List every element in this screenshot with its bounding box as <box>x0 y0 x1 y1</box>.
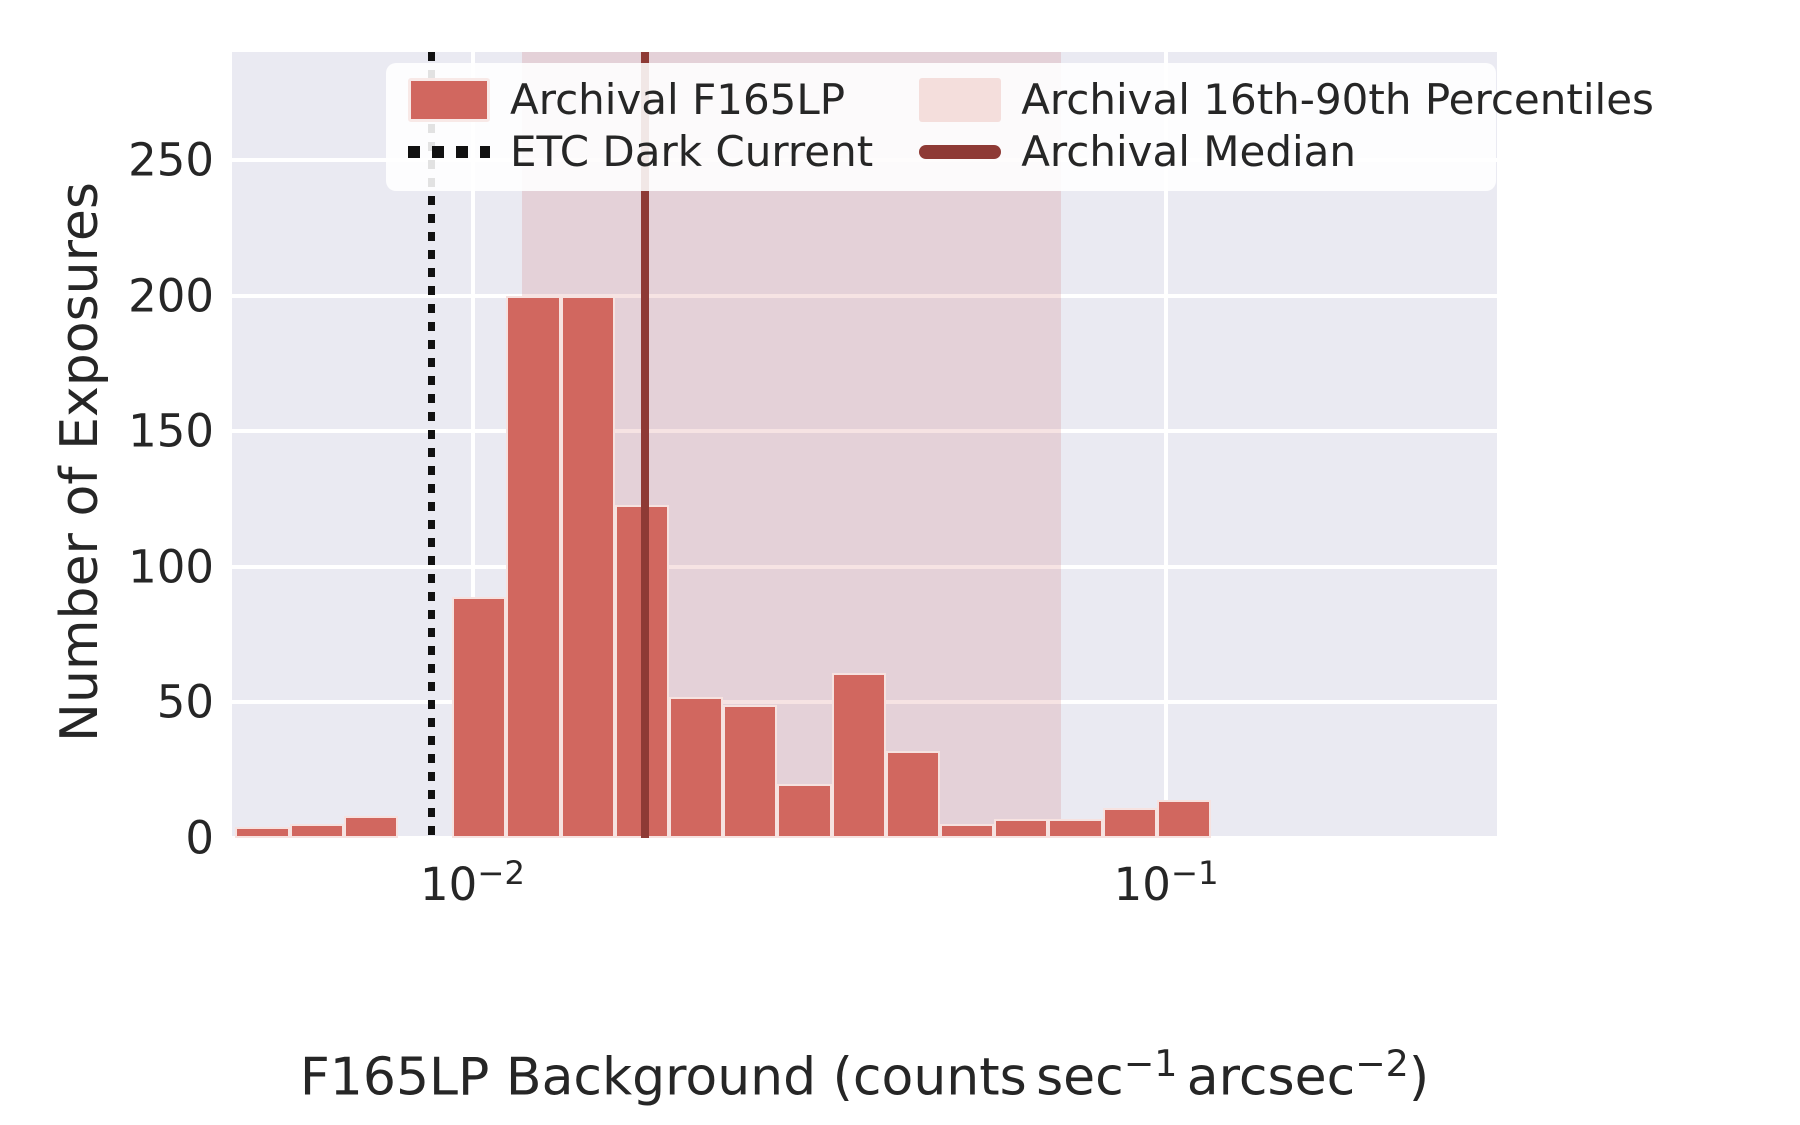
histogram-bar <box>452 597 506 838</box>
y-axis-title: Number of Exposures <box>50 82 110 842</box>
x-title-close-paren: ) <box>1409 1047 1429 1107</box>
histogram-bar <box>940 824 994 838</box>
y-tick-label: 100 <box>94 544 214 589</box>
x-tick-label-right: 10−1 <box>1114 854 1219 911</box>
y-tick-label: 250 <box>94 138 214 183</box>
x-tick-right-mantissa: 10 <box>1114 858 1171 911</box>
x-tick-right-exponent: −1 <box>1171 854 1219 892</box>
x-title-sec: sec <box>1036 1047 1124 1107</box>
y-tick-label: 50 <box>94 680 214 725</box>
histogram-bar <box>886 751 940 838</box>
histogram-bar <box>1103 808 1157 838</box>
x-tick-left-mantissa: 10 <box>420 858 477 911</box>
solid-line-icon <box>919 145 1001 159</box>
bar-swatch-icon <box>408 78 490 122</box>
legend-item-etc-dark-current: ETC Dark Current <box>408 129 873 175</box>
x-tick-label-left: 10−2 <box>420 854 525 911</box>
dotted-line-icon <box>408 146 490 158</box>
histogram-bar <box>723 705 777 838</box>
histogram-bar <box>1048 819 1102 838</box>
histogram-bar <box>832 673 886 838</box>
chart-legend: Archival F165LP Archival 16th-90th Perce… <box>386 63 1496 191</box>
y-tick-label: 0 <box>94 816 214 861</box>
figure-canvas: 050100150200250 Number of Exposures 10−2… <box>0 0 1800 1125</box>
x-title-sec-exponent: −1 <box>1124 1042 1178 1085</box>
band-swatch-icon <box>919 78 1001 122</box>
x-title-part1: F165LP Background (counts <box>300 1047 1027 1107</box>
y-tick-label: 200 <box>94 273 214 318</box>
legend-label-archival-f165lp: Archival F165LP <box>510 77 845 123</box>
histogram-bar <box>777 784 831 838</box>
histogram-bar <box>561 296 615 838</box>
x-title-arcsec: arcsec <box>1187 1047 1355 1107</box>
legend-item-archival-f165lp: Archival F165LP <box>408 77 873 123</box>
histogram-bar <box>1157 800 1211 838</box>
x-tick-left-exponent: −2 <box>477 854 525 892</box>
legend-label-percentiles: Archival 16th-90th Percentiles <box>1021 77 1654 123</box>
x-title-arcsec-exponent: −2 <box>1355 1042 1409 1085</box>
x-axis-title: F165LP Background (countssec−1arcsec−2) <box>232 1042 1497 1107</box>
y-tick-label: 150 <box>94 409 214 454</box>
histogram-bar <box>290 824 344 838</box>
legend-label-archival-median: Archival Median <box>1021 129 1356 175</box>
legend-item-archival-median: Archival Median <box>919 129 1654 175</box>
histogram-bar <box>506 296 560 838</box>
legend-label-etc-dark-current: ETC Dark Current <box>510 129 873 175</box>
histogram-bar <box>235 827 289 838</box>
histogram-bar <box>344 816 398 838</box>
histogram-bar <box>669 697 723 838</box>
legend-item-percentiles: Archival 16th-90th Percentiles <box>919 77 1654 123</box>
histogram-bar <box>994 819 1048 838</box>
